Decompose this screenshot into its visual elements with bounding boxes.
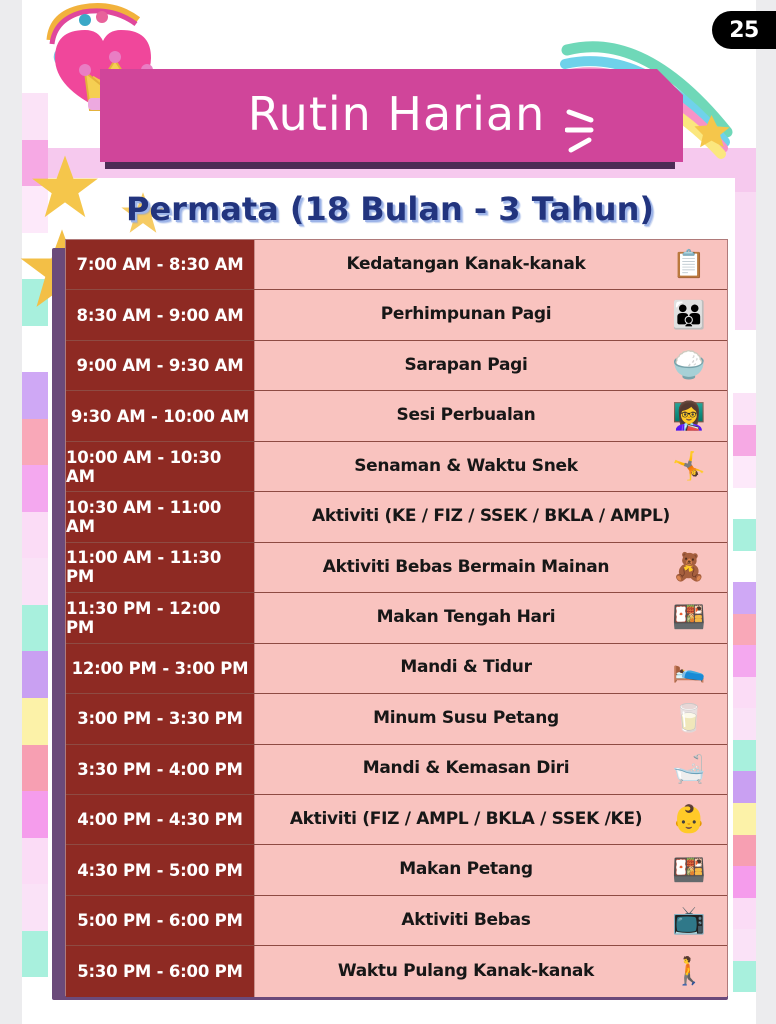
table-row: 4:30 PM - 5:00 PMMakan Petang🍱 xyxy=(66,845,727,895)
stripe-segment xyxy=(733,803,756,835)
children-dinner-icon: 🍱 xyxy=(655,847,723,893)
time-cell: 10:00 AM - 10:30 AM xyxy=(66,442,255,491)
stripe-segment xyxy=(733,362,756,394)
activity-label: Perhimpunan Pagi xyxy=(373,306,610,324)
stripe-segment xyxy=(22,884,48,931)
clipboard-attendance-icon: 📋 xyxy=(655,242,723,288)
activity-label: Makan Petang xyxy=(391,861,590,879)
stripe-segment xyxy=(22,791,48,838)
children-lunch-icon: 🍱 xyxy=(655,595,723,641)
stripe-segment xyxy=(22,651,48,698)
stripe-segment xyxy=(733,551,756,583)
table-row: 7:00 AM - 8:30 AMKedatangan Kanak-kanak📋 xyxy=(66,240,727,290)
table-row: 9:00 AM - 9:30 AMSarapan Pagi🍚 xyxy=(66,341,727,391)
activity-label: Mandi & Tidur xyxy=(392,659,589,677)
bath-grooming-icon: 🛁 xyxy=(655,746,723,792)
schedule-table: 7:00 AM - 8:30 AMKedatangan Kanak-kanak📋… xyxy=(65,239,728,996)
activity-cell: Sarapan Pagi🍚 xyxy=(255,341,727,390)
time-cell: 8:30 AM - 9:00 AM xyxy=(66,290,255,339)
stripe-segment xyxy=(22,372,48,419)
poster-page: Rutin Harian 25 Permata (18 Bulan - 3 Ta… xyxy=(0,0,776,1024)
time-cell: 5:30 PM - 6:00 PM xyxy=(66,946,255,996)
activity-cell: Makan Petang🍱 xyxy=(255,845,727,894)
stripe-segment xyxy=(22,605,48,652)
activity-cell: Aktiviti Bebas📺 xyxy=(255,896,727,945)
stripe-segment xyxy=(733,582,756,614)
table-row: 8:30 AM - 9:00 AMPerhimpunan Pagi👪 xyxy=(66,290,727,340)
time-cell: 11:30 PM - 12:00 PM xyxy=(66,593,255,642)
table-row: 10:30 AM - 11:00 AMAktiviti (KE / FIZ / … xyxy=(66,492,727,542)
banner-title: Rutin Harian xyxy=(248,87,545,141)
right-color-stripe xyxy=(733,330,756,1024)
stripe-segment xyxy=(733,456,756,488)
activity-cell: Senaman & Waktu Snek🤸 xyxy=(255,442,727,491)
page-subtitle: Permata (18 Bulan - 3 Tahun) xyxy=(126,190,654,228)
stripe-segment xyxy=(733,425,756,457)
page-number-badge: 25 xyxy=(712,11,776,49)
time-cell: 9:00 AM - 9:30 AM xyxy=(66,341,255,390)
activity-label: Minum Susu Petang xyxy=(365,710,617,728)
table-row: 11:30 PM - 12:00 PMMakan Tengah Hari🍱 xyxy=(66,593,727,643)
table-row: 5:00 PM - 6:00 PMAktiviti Bebas📺 xyxy=(66,896,727,946)
table-row: 10:00 AM - 10:30 AMSenaman & Waktu Snek🤸 xyxy=(66,442,727,492)
time-cell: 7:00 AM - 8:30 AM xyxy=(66,240,255,289)
activity-label: Aktiviti (KE / FIZ / SSEK / BKLA / AMPL) xyxy=(302,508,680,526)
time-cell: 3:30 PM - 4:00 PM xyxy=(66,745,255,794)
stripe-segment xyxy=(733,393,756,425)
time-cell: 12:00 PM - 3:00 PM xyxy=(66,644,255,693)
activity-label: Aktiviti (FIZ / AMPL / BKLA / SSEK /KE) xyxy=(282,811,700,829)
stripe-segment xyxy=(22,326,48,373)
activity-label: Aktiviti Bebas Bermain Mainan xyxy=(315,559,667,577)
child-eating-icon: 🍚 xyxy=(655,343,723,389)
activity-cell: Makan Tengah Hari🍱 xyxy=(255,593,727,642)
stripe-segment xyxy=(733,614,756,646)
activity-label: Aktiviti Bebas xyxy=(393,912,588,930)
stripe-segment xyxy=(733,898,756,930)
stripe-segment xyxy=(733,645,756,677)
activity-label: Sarapan Pagi xyxy=(396,357,585,375)
stripe-segment xyxy=(733,708,756,740)
stripe-segment xyxy=(22,698,48,745)
bath-baby-icon: 👶 xyxy=(655,797,723,843)
subtitle-container: Permata (18 Bulan - 3 Tahun) xyxy=(45,186,735,232)
stripe-segment xyxy=(22,745,48,792)
children-toys-icon: 🧸 xyxy=(655,544,723,590)
stripe-segment xyxy=(733,740,756,772)
activity-label: Kedatangan Kanak-kanak xyxy=(338,256,643,274)
activity-label: Waktu Pulang Kanak-kanak xyxy=(330,963,652,981)
activity-cell: Sesi Perbualan👩‍🏫 xyxy=(255,391,727,440)
activity-label: Senaman & Waktu Snek xyxy=(346,458,636,476)
time-cell: 10:30 AM - 11:00 AM xyxy=(66,492,255,541)
time-cell: 9:30 AM - 10:00 AM xyxy=(66,391,255,440)
stripe-segment xyxy=(22,512,48,559)
activity-cell: Aktiviti (FIZ / AMPL / BKLA / SSEK /KE)👶 xyxy=(255,795,727,844)
stripe-segment xyxy=(733,771,756,803)
table-row: 3:30 PM - 4:00 PMMandi & Kemasan Diri🛁 xyxy=(66,745,727,795)
activity-label: Mandi & Kemasan Diri xyxy=(355,760,628,778)
table-row: 5:30 PM - 6:00 PMWaktu Pulang Kanak-kana… xyxy=(66,946,727,996)
stripe-segment xyxy=(733,519,756,551)
time-cell: 11:00 AM - 11:30 PM xyxy=(66,543,255,592)
stripe-segment xyxy=(22,465,48,512)
activity-cell: Minum Susu Petang🥛 xyxy=(255,694,727,743)
bath-sleep-icon: 🛌 xyxy=(655,645,723,691)
stripe-segment xyxy=(733,835,756,867)
exercise-snack-icon: 🤸 xyxy=(655,444,723,490)
table-row: 4:00 PM - 4:30 PMAktiviti (FIZ / AMPL / … xyxy=(66,795,727,845)
activity-cell: Mandi & Kemasan Diri🛁 xyxy=(255,745,727,794)
table-row: 12:00 PM - 3:00 PMMandi & Tidur🛌 xyxy=(66,644,727,694)
assembly-people-icon: 👪 xyxy=(655,292,723,338)
activity-cell: Waktu Pulang Kanak-kanak🚶 xyxy=(255,946,727,996)
table-row: 9:30 AM - 10:00 AMSesi Perbualan👩‍🏫 xyxy=(66,391,727,441)
stripe-segment xyxy=(22,977,48,1024)
stripe-segment xyxy=(733,866,756,898)
sparkle-icon xyxy=(565,108,611,156)
time-cell: 3:00 PM - 3:30 PM xyxy=(66,694,255,743)
table-row: 11:00 AM - 11:30 PMAktiviti Bebas Bermai… xyxy=(66,543,727,593)
teacher-children-icon: 👩‍🏫 xyxy=(655,393,723,439)
child-leaving-icon: 🚶 xyxy=(655,949,723,995)
page-number: 25 xyxy=(729,18,759,43)
stripe-segment xyxy=(733,992,756,1024)
stripe-segment xyxy=(22,931,48,978)
activity-cell: Aktiviti Bebas Bermain Mainan🧸 xyxy=(255,543,727,592)
activity-cell: Perhimpunan Pagi👪 xyxy=(255,290,727,339)
milk-glass-icon: 🥛 xyxy=(655,696,723,742)
tv-watching-icon: 📺 xyxy=(655,898,723,944)
stripe-segment xyxy=(22,838,48,885)
activity-label: Sesi Perbualan xyxy=(389,407,594,425)
time-cell: 4:30 PM - 5:00 PM xyxy=(66,845,255,894)
activity-cell: Kedatangan Kanak-kanak📋 xyxy=(255,240,727,289)
stripe-segment xyxy=(22,419,48,466)
stripe-segment xyxy=(733,961,756,993)
stripe-segment xyxy=(733,330,756,362)
time-cell: 5:00 PM - 6:00 PM xyxy=(66,896,255,945)
stripe-segment xyxy=(733,488,756,520)
activity-label: Makan Tengah Hari xyxy=(369,609,614,627)
stripe-segment xyxy=(22,558,48,605)
stripe-segment xyxy=(733,677,756,709)
activity-cell: Mandi & Tidur🛌 xyxy=(255,644,727,693)
table-row: 3:00 PM - 3:30 PMMinum Susu Petang🥛 xyxy=(66,694,727,744)
stripe-segment xyxy=(733,929,756,961)
activity-cell: Aktiviti (KE / FIZ / SSEK / BKLA / AMPL) xyxy=(255,492,727,541)
time-cell: 4:00 PM - 4:30 PM xyxy=(66,795,255,844)
